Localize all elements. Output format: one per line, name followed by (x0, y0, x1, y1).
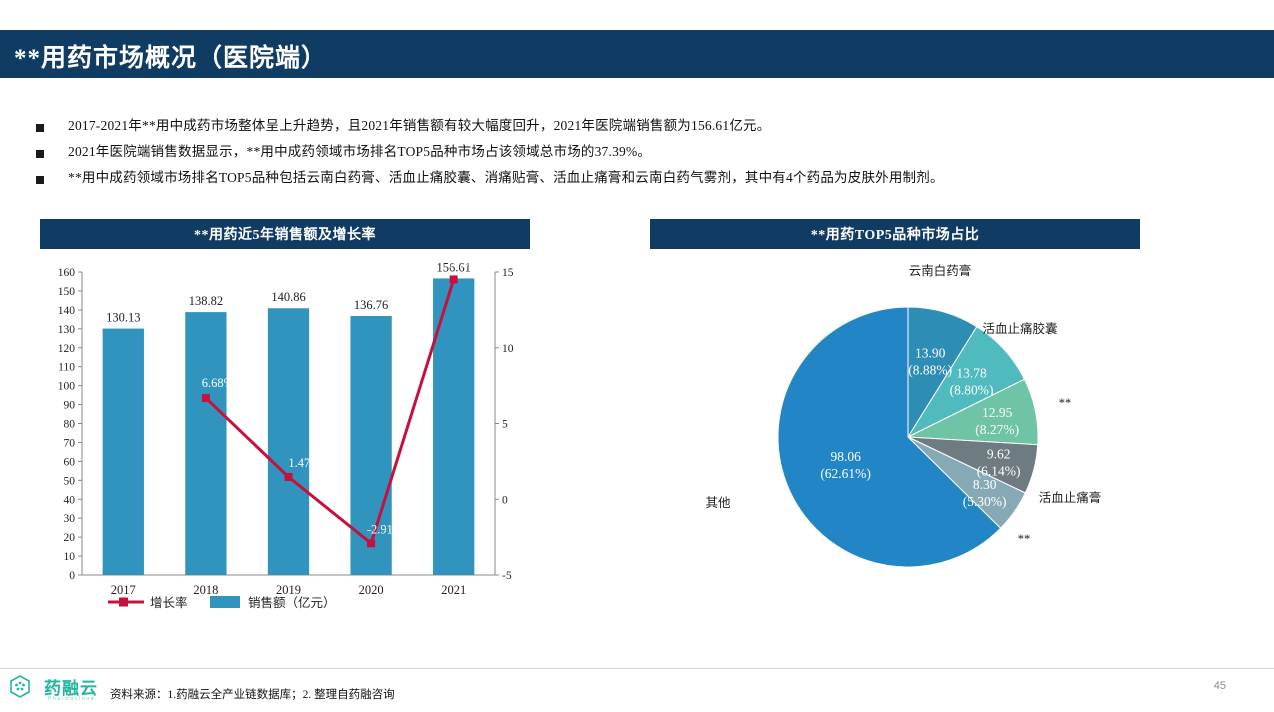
svg-text:60: 60 (64, 456, 76, 468)
svg-text:13.78: 13.78 (956, 365, 987, 380)
svg-text:-5: -5 (502, 570, 512, 582)
svg-text:15: 15 (502, 267, 514, 279)
svg-text:13.90: 13.90 (915, 346, 946, 361)
page-number: 45 (1214, 680, 1226, 692)
right-chart-title: **用药TOP5品种市场占比 (811, 224, 980, 244)
svg-text:0: 0 (69, 570, 75, 582)
square-bullet-icon (36, 176, 44, 184)
svg-text:100: 100 (58, 381, 76, 393)
slide-root: **用药市场概况（医院端） 2017-2021年**用中成药市场整体呈上升趋势，… (0, 0, 1274, 712)
svg-text:2019: 2019 (276, 583, 301, 597)
svg-text:12.95: 12.95 (982, 405, 1013, 420)
bullet-text: **用中成药领域市场排名TOP5品种包括云南白药膏、活血止痛胶囊、消痛贴膏、活血… (68, 170, 944, 187)
svg-text:-2.91%: -2.91% (367, 522, 403, 536)
list-item: **用中成药领域市场排名TOP5品种包括云南白药膏、活血止痛胶囊、消痛贴膏、活血… (36, 170, 1246, 187)
svg-text:1.47%: 1.47% (288, 456, 320, 470)
svg-text:150: 150 (58, 286, 76, 298)
footer-divider (0, 668, 1274, 669)
pie-chart-svg: 13.90(8.88%)13.78(8.80%)12.95(8.27%)9.62… (650, 255, 1150, 625)
bullet-list: 2017-2021年**用中成药市场整体呈上升趋势，且2021年销售额有较大幅度… (36, 118, 1246, 196)
svg-text:98.06: 98.06 (830, 449, 861, 464)
svg-text:80: 80 (64, 419, 76, 431)
svg-text:5: 5 (502, 419, 508, 431)
svg-text:8.30: 8.30 (973, 477, 997, 492)
svg-text:136.76: 136.76 (354, 298, 388, 312)
svg-text:110: 110 (58, 362, 75, 374)
svg-text:0: 0 (502, 494, 508, 506)
square-bullet-icon (36, 150, 44, 158)
svg-text:销售额（亿元）: 销售额（亿元） (248, 595, 336, 610)
svg-text:6.68%: 6.68% (202, 376, 234, 390)
page-title: **用药市场概况（医院端） (14, 38, 327, 74)
svg-text:增长率: 增长率 (150, 595, 188, 610)
bar-chart-svg: 0102030405060708090100110120130140150160… (40, 262, 540, 622)
svg-text:160: 160 (58, 267, 76, 279)
svg-text:138.82: 138.82 (189, 294, 223, 308)
svg-text:2020: 2020 (359, 583, 384, 597)
svg-text:活血止痛膏: 活血止痛膏 (1039, 490, 1102, 505)
svg-text:130.13: 130.13 (106, 311, 140, 325)
svg-text:40: 40 (64, 494, 76, 506)
svg-text:2017: 2017 (111, 583, 136, 597)
right-chart-header: **用药TOP5品种市场占比 (650, 219, 1140, 249)
svg-text:10: 10 (64, 551, 76, 563)
list-item: 2017-2021年**用中成药市场整体呈上升趋势，且2021年销售额有较大幅度… (36, 118, 1246, 135)
left-chart-header: **用药近5年销售额及增长率 (40, 219, 530, 249)
list-item: 2021年医院端销售数据显示，**用中成药领域市场排名TOP5品种市场占该领域总… (36, 144, 1246, 161)
svg-text:14.51%: 14.51% (446, 262, 485, 270)
svg-text:50: 50 (64, 475, 76, 487)
svg-text:70: 70 (64, 437, 76, 449)
square-bullet-icon (36, 124, 44, 132)
svg-text:90: 90 (64, 400, 76, 412)
svg-text:120: 120 (58, 343, 76, 355)
bullet-text: 2021年医院端销售数据显示，**用中成药领域市场排名TOP5品种市场占该领域总… (68, 144, 651, 161)
svg-text:**: ** (1018, 532, 1031, 546)
top5-market-share-pie-chart: 13.90(8.88%)13.78(8.80%)12.95(8.27%)9.62… (650, 255, 1150, 625)
svg-text:140.86: 140.86 (271, 290, 305, 304)
svg-text:30: 30 (64, 513, 76, 525)
svg-text:9.62: 9.62 (987, 446, 1011, 461)
svg-text:2018: 2018 (193, 583, 218, 597)
svg-text:130: 130 (58, 324, 76, 336)
svg-text:其他: 其他 (705, 496, 731, 510)
logo-subtitle: Pharmacloud (48, 696, 95, 702)
svg-text:(62.61%): (62.61%) (820, 466, 871, 481)
svg-text:(5.30%): (5.30%) (963, 494, 1007, 509)
svg-text:活血止痛胶囊: 活血止痛胶囊 (982, 321, 1057, 336)
left-chart-title: **用药近5年销售额及增长率 (194, 224, 376, 244)
svg-text:(8.80%): (8.80%) (950, 382, 994, 397)
svg-text:2021: 2021 (441, 583, 466, 597)
source-note: 资料来源：1.药融云全产业链数据库；2. 整理自药融咨询 (110, 686, 395, 702)
svg-text:10: 10 (502, 343, 514, 355)
svg-text:(8.27%): (8.27%) (975, 422, 1019, 437)
svg-text:140: 140 (58, 305, 76, 317)
svg-text:云南白药膏: 云南白药膏 (909, 263, 972, 278)
sales-growth-combo-chart: 0102030405060708090100110120130140150160… (40, 262, 540, 622)
svg-text:(8.88%): (8.88%) (908, 363, 952, 378)
svg-text:**: ** (1059, 396, 1072, 410)
bullet-text: 2017-2021年**用中成药市场整体呈上升趋势，且2021年销售额有较大幅度… (68, 118, 770, 135)
svg-text:20: 20 (64, 532, 76, 544)
